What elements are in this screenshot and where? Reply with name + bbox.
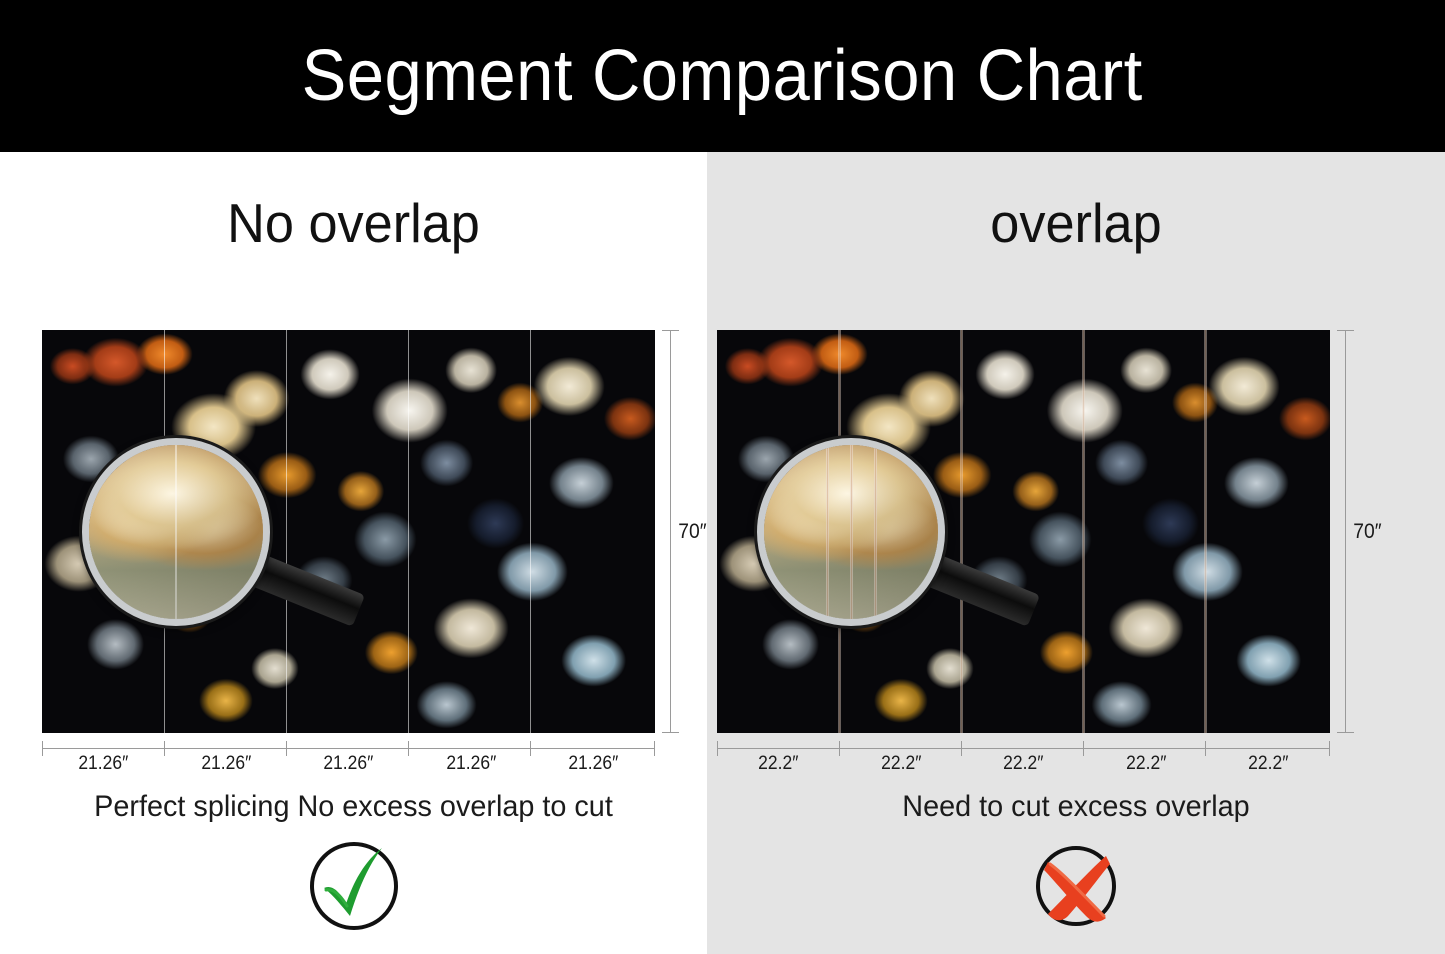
floral-pattern xyxy=(42,330,655,733)
comparison-chart-page: Segment Comparison Chart No overlap xyxy=(0,0,1445,954)
dimension-tick xyxy=(662,330,679,331)
seam-line-3 xyxy=(1082,330,1085,733)
verdict-no-overlap xyxy=(0,838,707,934)
title-band: Segment Comparison Chart xyxy=(0,0,1445,152)
panel-overlap: overlap xyxy=(707,152,1445,954)
dimension-line xyxy=(717,748,1330,749)
segment-width-label: 21.26″ xyxy=(169,753,282,775)
height-dimension-overlap: 70″ xyxy=(1337,330,1383,733)
seam-line-1 xyxy=(838,330,841,733)
dimension-tick xyxy=(1337,330,1354,331)
segment-width-label: 22.2″ xyxy=(1090,753,1203,775)
width-dimension-overlap: 22.2″ 22.2″ 22.2″ 22.2″ 22.2″ xyxy=(717,741,1330,783)
dimension-tick xyxy=(662,732,679,733)
seam-line-3 xyxy=(408,330,409,733)
dimension-line xyxy=(670,330,671,733)
seam-line-4 xyxy=(1204,330,1207,733)
segment-width-labels: 22.2″ 22.2″ 22.2″ 22.2″ 22.2″ xyxy=(717,753,1330,775)
figure-no-overlap: 21.26″ 21.26″ 21.26″ 21.26″ 21.26″ 70″ xyxy=(42,330,655,733)
verdict-overlap xyxy=(707,838,1445,934)
width-dimension-no-overlap: 21.26″ 21.26″ 21.26″ 21.26″ 21.26″ xyxy=(42,741,655,783)
figure-overlap: 22.2″ 22.2″ 22.2″ 22.2″ 22.2″ 70″ xyxy=(717,330,1330,733)
seam-line-1 xyxy=(164,330,165,733)
seam-line-2 xyxy=(286,330,287,733)
floral-pattern xyxy=(717,330,1330,733)
segment-width-label: 21.26″ xyxy=(292,753,405,775)
panel-no-overlap: No overlap xyxy=(0,152,707,954)
segment-width-label: 21.26″ xyxy=(47,753,160,775)
panel-heading-no-overlap: No overlap xyxy=(18,196,690,251)
segment-width-label: 22.2″ xyxy=(844,753,957,775)
panels-container: No overlap xyxy=(0,152,1445,954)
seam-line-2 xyxy=(960,330,963,733)
dimension-tick xyxy=(1337,732,1354,733)
caption-no-overlap: Perfect splicing No excess overlap to cu… xyxy=(14,792,693,822)
segment-width-label: 21.26″ xyxy=(537,753,650,775)
cross-icon xyxy=(1028,838,1124,934)
height-label: 70″ xyxy=(1353,520,1381,544)
segment-width-label: 22.2″ xyxy=(722,753,835,775)
page-title: Segment Comparison Chart xyxy=(302,40,1143,112)
segment-width-label: 21.26″ xyxy=(415,753,528,775)
dimension-line xyxy=(42,748,655,749)
height-label: 70″ xyxy=(678,520,706,544)
mural-image-overlap xyxy=(717,330,1330,733)
segment-width-label: 22.2″ xyxy=(967,753,1080,775)
segment-width-label: 22.2″ xyxy=(1212,753,1325,775)
mural-image-no-overlap xyxy=(42,330,655,733)
segment-width-labels: 21.26″ 21.26″ 21.26″ 21.26″ 21.26″ xyxy=(42,753,655,775)
seam-line-4 xyxy=(530,330,531,733)
height-dimension-no-overlap: 70″ xyxy=(662,330,708,733)
panel-heading-overlap: overlap xyxy=(725,196,1426,251)
caption-overlap: Need to cut excess overlap xyxy=(722,792,1430,822)
check-icon xyxy=(306,838,402,934)
dimension-line xyxy=(1345,330,1346,733)
